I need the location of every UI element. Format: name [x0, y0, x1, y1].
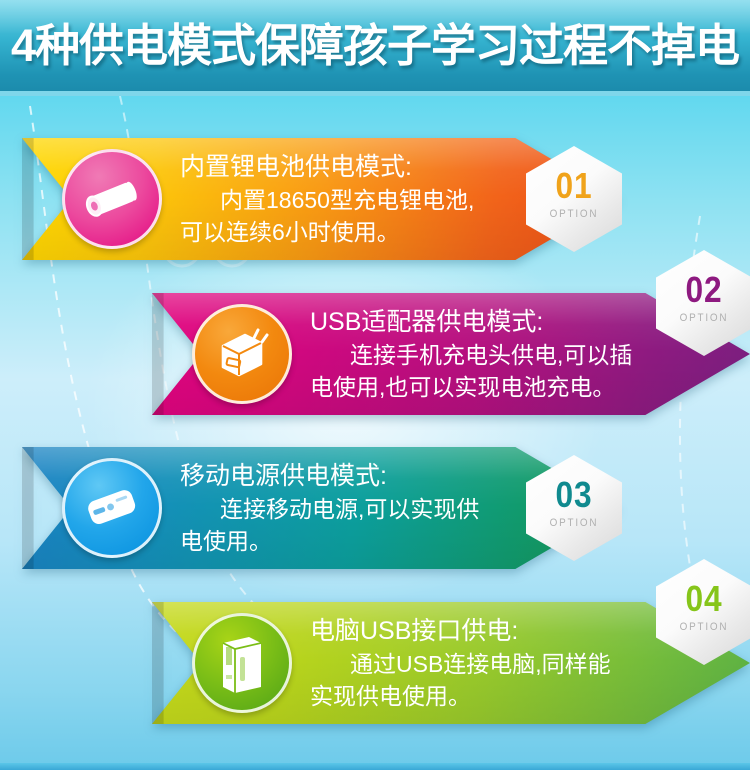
option-title: 内置锂电池供电模式: [180, 150, 580, 184]
option-title: USB适配器供电模式: [310, 305, 710, 339]
option-badge-1: 01 OPTION [526, 146, 622, 252]
option-number: 04 [662, 581, 746, 617]
option-text-3: 移动电源供电模式: 连接移动电源,可以实现供 电使用。 [180, 459, 580, 557]
option-text-2: USB适配器供电模式: 连接手机充电头供电,可以插 电使用,也可以实现电池充电。 [310, 305, 710, 403]
option-body-line-2: 可以连续6小时使用。 [180, 216, 580, 248]
option-caption: OPTION [661, 621, 747, 633]
option-title: 电脑USB接口供电: [310, 614, 710, 648]
option-text-4: 电脑USB接口供电: 通过USB连接电脑,同样能 实现供电使用。 [310, 614, 710, 712]
option-badge-4: 04 OPTION [656, 559, 750, 665]
option-row-4: 电脑USB接口供电: 通过USB连接电脑,同样能 实现供电使用。 04 OPTI… [152, 602, 750, 724]
option-text-1: 内置锂电池供电模式: 内置18650型充电锂电池, 可以连续6小时使用。 [180, 150, 580, 248]
option-caption: OPTION [531, 208, 617, 220]
battery-icon [62, 149, 162, 249]
option-number: 01 [532, 168, 616, 204]
option-number: 03 [532, 477, 616, 513]
usb-power-adapter-icon [192, 304, 292, 404]
option-row-1: 内置锂电池供电模式: 内置18650型充电锂电池, 可以连续6小时使用。 01 … [22, 138, 620, 260]
option-body-line-1: 连接手机充电头供电,可以插 [310, 339, 710, 371]
infographic-poster: 4种供电模式保障孩子学习过程不掉电 内置锂电池供电模式: 内置18650型充电锂… [0, 0, 750, 770]
option-row-3: 移动电源供电模式: 连接移动电源,可以实现供 电使用。 03 OPTION [22, 447, 620, 569]
option-body-line-1: 通过USB连接电脑,同样能 [310, 648, 710, 680]
option-caption: OPTION [661, 312, 747, 324]
desktop-computer-icon [192, 613, 292, 713]
bottom-strip [0, 763, 750, 770]
option-row-2: USB适配器供电模式: 连接手机充电头供电,可以插 电使用,也可以实现电池充电。… [152, 293, 750, 415]
option-number: 02 [662, 272, 746, 308]
page-title: 4种供电模式保障孩子学习过程不掉电 [0, 10, 750, 82]
header-underline [0, 91, 750, 96]
option-title: 移动电源供电模式: [180, 459, 580, 493]
option-body-line-2: 实现供电使用。 [310, 680, 710, 712]
header-bar: 4种供电模式保障孩子学习过程不掉电 [0, 0, 750, 96]
power-bank-icon [62, 458, 162, 558]
option-badge-2: 02 OPTION [656, 250, 750, 356]
option-body-line-1: 内置18650型充电锂电池, [180, 184, 580, 216]
option-caption: OPTION [531, 517, 617, 529]
option-badge-3: 03 OPTION [526, 455, 622, 561]
option-body-line-2: 电使用。 [180, 525, 580, 557]
option-body-line-1: 连接移动电源,可以实现供 [180, 493, 580, 525]
option-body-line-2: 电使用,也可以实现电池充电。 [310, 371, 710, 403]
